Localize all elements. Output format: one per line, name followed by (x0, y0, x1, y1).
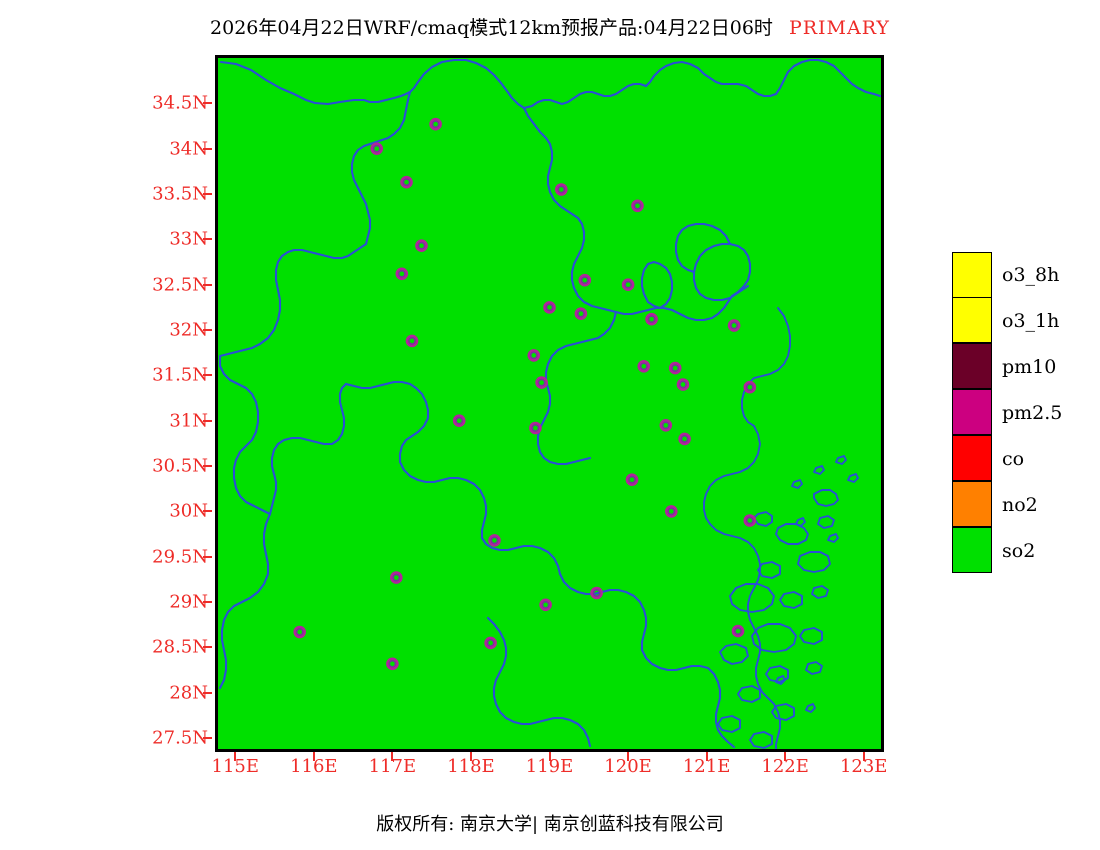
y-axis-tick (203, 646, 212, 648)
legend-swatch (952, 389, 992, 435)
y-axis: 34.5N34N33.5N33N32.5N32N31.5N31N30.5N30N… (128, 0, 208, 850)
legend-label: co (1002, 448, 1024, 470)
y-axis-tick (203, 284, 212, 286)
y-axis-tick (203, 329, 212, 331)
legend-label: o3_1h (1002, 310, 1059, 332)
y-axis-tick (203, 556, 212, 558)
x-axis-tick (549, 752, 551, 761)
primary-pollutant-flag: PRIMARY (789, 17, 890, 39)
y-axis-tick-label: 30.5N (152, 456, 208, 477)
x-axis-tick (706, 752, 708, 761)
legend-label: so2 (1002, 540, 1035, 562)
x-axis-tick (313, 752, 315, 761)
map-plot-area[interactable] (215, 55, 884, 752)
y-axis-tick-label: 31.5N (152, 365, 208, 386)
y-axis-tick (203, 102, 212, 104)
y-axis-tick (203, 601, 212, 603)
map-canvas (218, 58, 881, 749)
legend-swatch (952, 481, 992, 527)
y-axis-tick (203, 193, 212, 195)
copyright-footer: 版权所有: 南京大学| 南京创蓝科技有限公司 (0, 810, 1100, 836)
legend-swatch (952, 527, 992, 573)
y-axis-tick (203, 737, 212, 739)
y-axis-tick-label: 28.5N (152, 637, 208, 658)
x-axis-tick (234, 752, 236, 761)
x-axis-tick (863, 752, 865, 761)
legend-label: pm2.5 (1002, 402, 1062, 424)
legend-label: pm10 (1002, 356, 1056, 378)
x-axis-tick (470, 752, 472, 761)
y-axis-tick (203, 238, 212, 240)
x-axis-tick (391, 752, 393, 761)
x-axis-tick (784, 752, 786, 761)
x-axis-tick (627, 752, 629, 761)
page-title-text: 2026年04月22日WRF/cmaq模式12km预报产品:04月22日06时 (210, 17, 773, 39)
y-axis-tick-label: 29.5N (152, 546, 208, 567)
legend-label: o3_8h (1002, 264, 1059, 286)
forecast-map-page: 2026年04月22日WRF/cmaq模式12km预报产品:04月22日06时P… (0, 0, 1100, 850)
y-axis-tick-label: 34.5N (152, 93, 208, 114)
legend-swatch (952, 252, 992, 298)
legend-swatch (952, 435, 992, 481)
y-axis-tick (203, 420, 212, 422)
y-axis-tick-label: 27.5N (152, 728, 208, 749)
legend-label: no2 (1002, 494, 1038, 516)
y-axis-tick (203, 692, 212, 694)
y-axis-tick-label: 32.5N (152, 274, 208, 295)
y-axis-tick (203, 465, 212, 467)
legend-swatch (952, 297, 992, 343)
y-axis-tick (203, 148, 212, 150)
y-axis-tick (203, 510, 212, 512)
legend-swatch (952, 343, 992, 389)
y-axis-tick-label: 33.5N (152, 184, 208, 205)
y-axis-tick (203, 374, 212, 376)
